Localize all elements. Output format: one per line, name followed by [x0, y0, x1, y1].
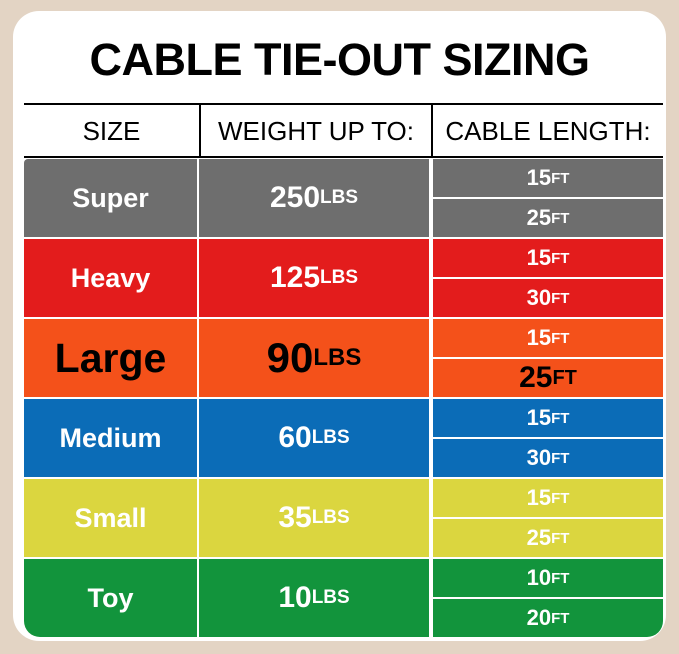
cable-length-option: 25FT: [433, 199, 663, 237]
table-body: Super250LBS15FT25FTHeavy125LBS15FT30FTLa…: [24, 159, 663, 629]
cable-length-option: 15FT: [433, 399, 663, 437]
table-row: Super250LBS15FT25FT: [24, 159, 663, 237]
cable-length-value: 15: [527, 325, 551, 351]
cell-cable-length: 10FT20FT: [431, 559, 663, 637]
chart-outer-frame: CABLE TIE-OUT SIZING SIZE WEIGHT UP TO: …: [0, 0, 679, 654]
cable-length-unit: FT: [551, 490, 569, 507]
cable-length-value: 15: [527, 165, 551, 191]
cell-weight: 125LBS: [199, 239, 429, 317]
table-row: Large90LBS15FT25FT: [24, 319, 663, 397]
cable-length-option: 30FT: [433, 279, 663, 317]
cell-size: Toy: [24, 559, 197, 637]
cable-length-value: 25: [527, 205, 551, 231]
cable-length-value: 15: [527, 245, 551, 271]
cable-length-option: 20FT: [433, 599, 663, 637]
size-label: Medium: [59, 423, 161, 454]
cable-length-option: 15FT: [433, 239, 663, 277]
size-label: Toy: [88, 583, 134, 614]
cable-length-value: 25: [519, 361, 552, 395]
table-row: Small35LBS15FT25FT: [24, 479, 663, 557]
header-cell-cable-length: CABLE LENGTH:: [431, 105, 663, 158]
cable-length-value: 15: [527, 485, 551, 511]
cell-weight: 60LBS: [199, 399, 429, 477]
size-label: Large: [55, 335, 167, 382]
weight-unit: LBS: [312, 427, 350, 449]
cell-weight: 35LBS: [199, 479, 429, 557]
cell-size: Large: [24, 319, 197, 397]
cable-length-option: 15FT: [433, 159, 663, 197]
weight-value: 35: [278, 501, 311, 535]
table-row: Toy10LBS10FT20FT: [24, 559, 663, 637]
cable-length-unit: FT: [551, 530, 569, 547]
cell-cable-length: 15FT25FT: [431, 479, 663, 557]
cable-length-unit: FT: [551, 250, 569, 267]
cable-length-option: 15FT: [433, 479, 663, 517]
cable-length-unit: FT: [551, 330, 569, 347]
weight-value: 250: [270, 181, 320, 215]
weight-value: 10: [278, 581, 311, 615]
cable-length-value: 30: [527, 445, 551, 471]
cable-length-unit: FT: [551, 410, 569, 427]
cell-size: Medium: [24, 399, 197, 477]
table-row: Heavy125LBS15FT30FT: [24, 239, 663, 317]
cell-size: Heavy: [24, 239, 197, 317]
cable-length-option: 10FT: [433, 559, 663, 597]
page-title: CABLE TIE-OUT SIZING: [13, 34, 666, 86]
cable-length-option: 30FT: [433, 439, 663, 477]
cable-length-unit: FT: [551, 450, 569, 467]
weight-unit: LBS: [312, 587, 350, 609]
cell-weight: 10LBS: [199, 559, 429, 637]
cable-length-value: 30: [527, 285, 551, 311]
cable-length-unit: FT: [552, 367, 576, 390]
size-label: Heavy: [71, 263, 151, 294]
table-header-row: SIZE WEIGHT UP TO: CABLE LENGTH:: [24, 103, 663, 158]
cable-length-unit: FT: [551, 170, 569, 187]
cable-length-value: 20: [527, 605, 551, 631]
cable-length-value: 15: [527, 405, 551, 431]
cable-length-option: 25FT: [433, 519, 663, 557]
weight-unit: LBS: [320, 267, 358, 289]
header-cell-weight: WEIGHT UP TO:: [199, 105, 431, 158]
cable-length-unit: FT: [551, 610, 569, 627]
weight-unit: LBS: [312, 507, 350, 529]
cable-length-value: 25: [527, 525, 551, 551]
weight-value: 125: [270, 261, 320, 295]
cable-length-unit: FT: [551, 570, 569, 587]
cell-cable-length: 15FT25FT: [431, 319, 663, 397]
cell-cable-length: 15FT30FT: [431, 399, 663, 477]
weight-unit: LBS: [320, 187, 358, 209]
cable-length-option: 25FT: [433, 359, 663, 397]
size-label: Super: [72, 183, 149, 214]
header-cell-size: SIZE: [24, 105, 199, 158]
cable-length-unit: FT: [551, 210, 569, 227]
cable-length-value: 10: [527, 565, 551, 591]
cell-weight: 250LBS: [199, 159, 429, 237]
cell-cable-length: 15FT30FT: [431, 239, 663, 317]
cable-length-unit: FT: [551, 290, 569, 307]
cable-length-option: 15FT: [433, 319, 663, 357]
chart-card: CABLE TIE-OUT SIZING SIZE WEIGHT UP TO: …: [13, 11, 666, 641]
cell-weight: 90LBS: [199, 319, 429, 397]
size-label: Small: [74, 503, 146, 534]
weight-value: 60: [278, 421, 311, 455]
table-row: Medium60LBS15FT30FT: [24, 399, 663, 477]
cell-cable-length: 15FT25FT: [431, 159, 663, 237]
cell-size: Super: [24, 159, 197, 237]
weight-unit: LBS: [313, 344, 361, 372]
weight-value: 90: [267, 334, 314, 382]
cell-size: Small: [24, 479, 197, 557]
